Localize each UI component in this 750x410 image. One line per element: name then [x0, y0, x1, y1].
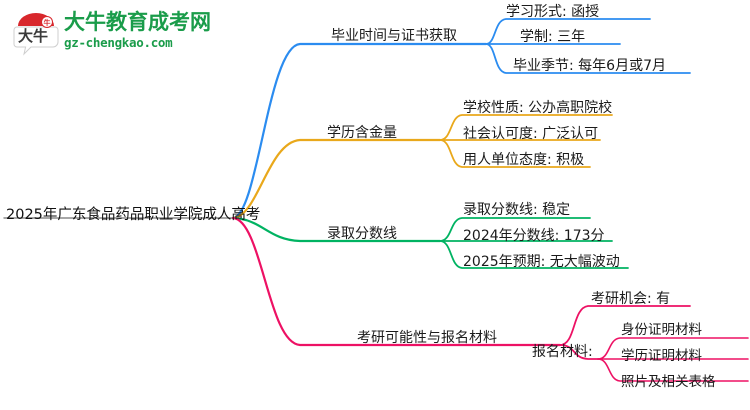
- root-node-label[interactable]: 2025年广东食品药品职业学院成人高考: [6, 208, 260, 223]
- branch-node-score-line[interactable]: 录取分数线: [327, 227, 397, 241]
- leaf-node-score-2024[interactable]: 2024年分数线: 173分: [463, 229, 605, 243]
- leaf-node-social-recognition[interactable]: 社会认可度: 广泛认可: [463, 127, 598, 141]
- leaf-node-score-trend[interactable]: 录取分数线: 稳定: [463, 203, 570, 217]
- link-root-to-degree-value: [233, 140, 440, 218]
- leaf-node-postgrad-chance[interactable]: 考研机会: 有: [591, 292, 670, 306]
- leaf-node-education-docs[interactable]: 学历证明材料: [621, 350, 702, 364]
- branch-node-graduation[interactable]: 毕业时间与证书获取: [331, 29, 457, 43]
- leaf-node-identity-docs[interactable]: 身份证明材料: [621, 324, 702, 338]
- mindmap-canvas: 大牛 牛 大牛教育成考网 gz-chengkao.com: [0, 0, 750, 410]
- leaf-node-application-materials[interactable]: 报名材料:: [532, 345, 593, 359]
- leaf-node-score-2025-forecast[interactable]: 2025年预期: 无大幅波动: [463, 255, 620, 269]
- branch-node-postgrad-materials[interactable]: 考研可能性与报名材料: [357, 331, 497, 345]
- leaf-node-study-length[interactable]: 学制: 三年: [520, 30, 585, 44]
- leaf-node-employer-attitude[interactable]: 用人单位态度: 积极: [463, 153, 584, 167]
- leaf-node-school-nature[interactable]: 学校性质: 公办高职院校: [463, 101, 612, 115]
- branch-node-degree-value[interactable]: 学历含金量: [327, 126, 397, 140]
- leaf-node-photos-forms[interactable]: 照片及相关表格: [621, 376, 716, 390]
- leaf-node-graduation-season[interactable]: 毕业季节: 每年6月或7月: [513, 59, 666, 73]
- leaf-node-study-form[interactable]: 学习形式: 函授: [506, 5, 599, 19]
